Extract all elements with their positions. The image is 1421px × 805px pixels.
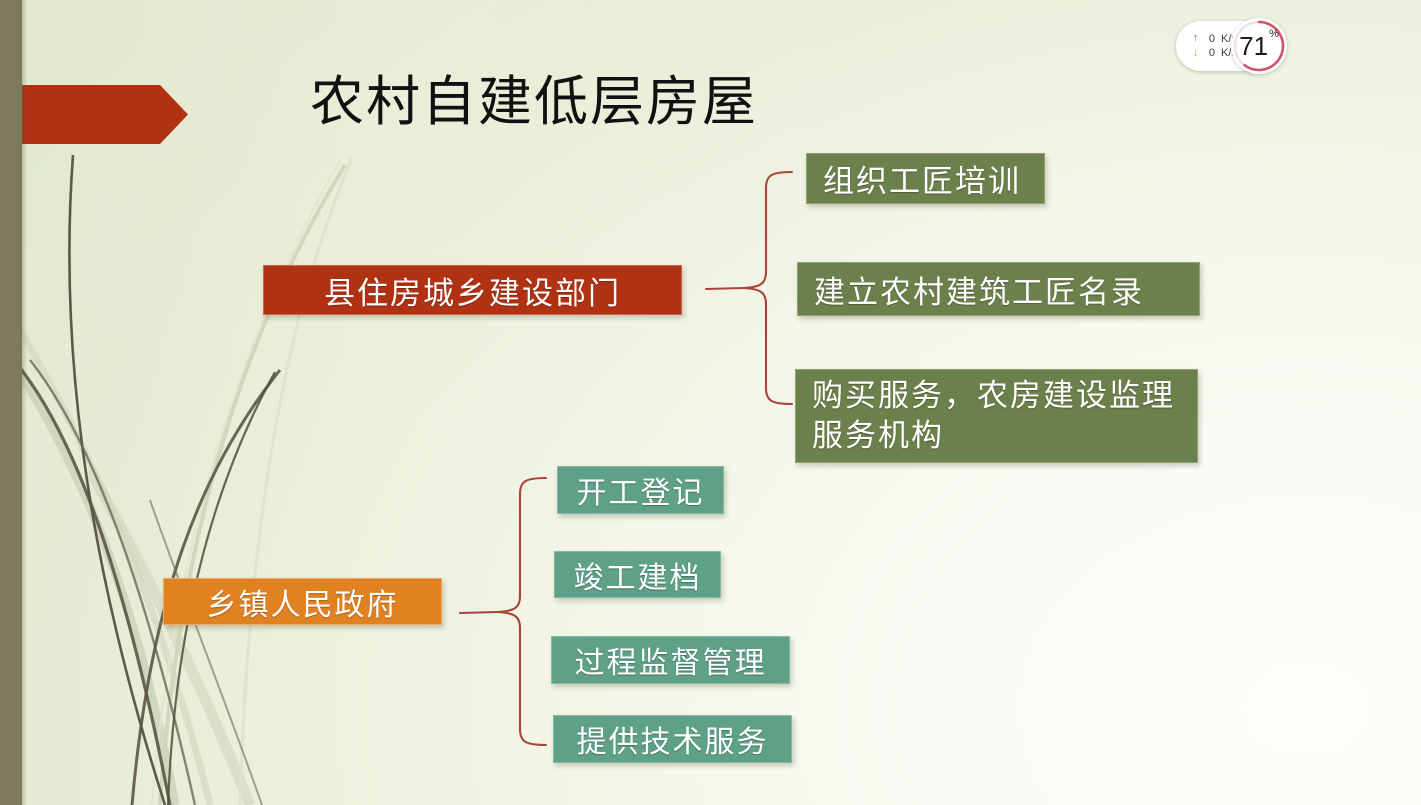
node-label: 建立农村建筑工匠名录: [814, 267, 1183, 312]
node-county-housing-department[interactable]: 县住房城乡建设部门: [263, 265, 682, 315]
node-label: 乡镇人民政府: [180, 580, 425, 624]
cpu-usage-unit: %: [1269, 6, 1279, 74]
node-completion-archiving[interactable]: 竣工建档: [554, 551, 721, 598]
left-edge-stripe: [0, 0, 22, 805]
node-township-government[interactable]: 乡镇人民政府: [163, 578, 442, 625]
node-label: 组织工匠培训: [823, 156, 1028, 201]
node-establish-craftsman-directory[interactable]: 建立农村建筑工匠名录: [797, 262, 1200, 316]
cpu-usage-value: 71: [1239, 18, 1268, 74]
download-speed-row: ↓ 0 K/s: [1190, 47, 1237, 59]
node-label: 县住房城乡建设部门: [280, 268, 665, 313]
left-edge-stripe-shadow: [22, 0, 27, 805]
page-title: 农村自建低层房屋: [310, 74, 758, 131]
cpu-usage-gauge[interactable]: 71 %: [1231, 18, 1287, 74]
node-process-supervision-management[interactable]: 过程监督管理: [551, 636, 790, 684]
arrow-up-icon: ↑: [1190, 33, 1201, 44]
node-purchase-supervision-service[interactable]: 购买服务，农房建设监理服务机构: [795, 369, 1198, 463]
arrow-down-icon: ↓: [1190, 48, 1201, 59]
node-provide-technical-service[interactable]: 提供技术服务: [553, 715, 792, 763]
node-label: 购买服务，农房建设监理服务机构: [812, 376, 1181, 455]
upload-speed-value: 0: [1202, 33, 1215, 45]
network-speed-rows: ↑ 0 K/s ↓ 0 K/s: [1190, 33, 1237, 59]
node-label: 开工登记: [572, 468, 709, 512]
node-start-registration[interactable]: 开工登记: [557, 466, 724, 514]
node-label: 竣工建档: [569, 553, 706, 597]
node-organize-craftsman-training[interactable]: 组织工匠培训: [806, 153, 1045, 204]
node-label: 提供技术服务: [568, 717, 777, 761]
download-speed-value: 0: [1202, 47, 1215, 59]
title-chevron-banner: [0, 85, 189, 144]
upload-speed-row: ↑ 0 K/s: [1190, 33, 1237, 45]
node-label: 过程监督管理: [566, 638, 775, 682]
presentation-slide: 农村自建低层房屋 县住房城乡建设部门 组织工匠培训 建立农村建筑工匠名录 购买服…: [0, 0, 1421, 805]
